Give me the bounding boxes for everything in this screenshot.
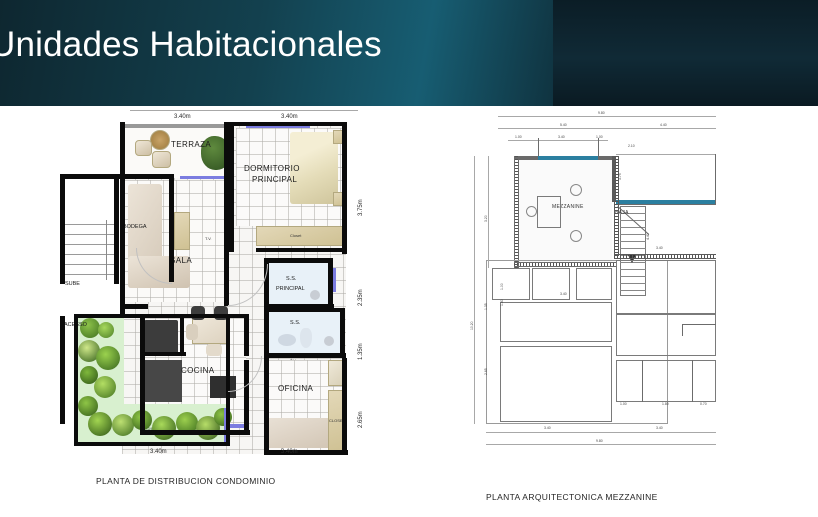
dim-chain-top-3 (508, 140, 608, 141)
tree-6 (94, 376, 116, 398)
wall-bodega-left (60, 174, 65, 284)
console-table (174, 212, 190, 250)
wall-cocina-inner-v (180, 314, 184, 356)
room-label-ss-principal: S.S. (286, 276, 296, 282)
terraza-chair-2 (152, 151, 171, 168)
wall-cocina-south (140, 430, 250, 435)
lower-wall-hatch (614, 254, 716, 259)
tree-8 (88, 412, 112, 436)
ss-fixture (324, 336, 334, 346)
room-label-ss-principal-2: PRINCIPAL (276, 286, 305, 292)
slide-content-area: 3.40m 3.40m TERRAZA DORMITORIO (0, 106, 818, 517)
dim-lower-b: 1.80 (662, 402, 669, 406)
dim-chain-left-inner (488, 156, 489, 268)
slide-header-banner: Unidades Habitacionales (0, 0, 818, 106)
floor-plan-mezzanine: 9.80 5.40 4.40 1.00 3.40 1.00 MEZZANINE (468, 110, 728, 485)
lower-detail-2 (682, 324, 683, 336)
tv-label-sala: T.V. (205, 236, 212, 241)
wall-oficina-south (264, 450, 348, 455)
dim-chain-bottom-2 (486, 444, 716, 445)
dim-top-b: 4.40 (660, 123, 667, 127)
wall-ss-principal-east (328, 258, 333, 308)
dining-chair-3 (186, 324, 198, 340)
room-label-dormitorio-2: PRINCIPAL (252, 175, 297, 184)
dim-top-a: 5.40 (560, 123, 567, 127)
room-label-bodega: BODEGA (123, 224, 147, 230)
east-band-edge (616, 204, 716, 205)
wall-acesso (60, 316, 65, 424)
dim-top-e: 1.00 (596, 135, 603, 139)
tree-2 (98, 322, 114, 338)
dim-right-1: 3.75m (358, 199, 364, 216)
wall-dorm-west (229, 122, 234, 252)
wall-ss-north (264, 308, 344, 312)
dim-chain-top-1 (498, 116, 716, 117)
wall-north-dorm (229, 122, 347, 126)
lower-div-1 (642, 360, 643, 402)
slide-root: Unidades Habitacionales 3.40m 3.40m TERR… (0, 0, 818, 517)
wall-jardin-west (74, 314, 78, 446)
room-label-dormitorio: DORMITORIO (244, 164, 300, 173)
dim-top-c: 1.00 (515, 135, 522, 139)
mezzanine-chair-3 (526, 206, 537, 217)
mezzanine-table (537, 196, 561, 228)
dim-bottom-r2: 3.40 (656, 426, 663, 430)
lower-wall-hatch-v (614, 156, 619, 256)
wall-ss-west (264, 308, 269, 358)
wall-east-upper (342, 122, 347, 254)
dim-left-5: 1.80 (500, 299, 504, 306)
dim-tick-2 (598, 138, 599, 156)
lower-room-7 (616, 314, 716, 356)
window-terraza-2 (180, 176, 226, 179)
wall-ss-east (340, 308, 345, 358)
stair-tread-5 (620, 241, 646, 242)
mezzanine-chair-1 (570, 184, 582, 196)
dim-left-overall: 10.20 (470, 322, 474, 331)
dim-top-1: 3.40m (174, 114, 191, 120)
dim-bottom-2: 3.40m (281, 449, 298, 455)
room-label-terraza: TERRAZA (171, 140, 211, 149)
tree-4 (96, 346, 120, 370)
dim-mid-a: 3.40 (560, 292, 567, 296)
tree-11 (152, 416, 176, 440)
wall-west-upper (120, 122, 125, 318)
wall-oficina-east (342, 358, 347, 454)
wall-jardin-north (74, 314, 240, 318)
dim-bottom-r1: 3.40 (544, 426, 551, 430)
room-label-ss: S.S. (290, 320, 300, 326)
dim-aux: 2.10 (628, 144, 635, 148)
ss-sink (278, 334, 296, 346)
wall-closet-bottom (256, 248, 346, 252)
wall-cocina-west (140, 314, 145, 434)
closet-label: Closet (290, 233, 301, 238)
wall-cocina-east-a (244, 314, 249, 356)
terraza-table (150, 130, 170, 150)
tree-1 (80, 318, 100, 338)
page-title: Unidades Habitacionales (0, 25, 382, 65)
east-outline-right (715, 154, 716, 204)
lower-room-6 (616, 260, 716, 314)
header-gradient-panel (553, 0, 818, 106)
stair-handrail (106, 220, 107, 280)
dim-left-3: 2.65 (484, 368, 488, 375)
cocina-appliance-2 (144, 360, 182, 402)
dim-tick-1 (538, 138, 539, 156)
stair-tread-6 (620, 248, 646, 249)
tree-9 (112, 414, 134, 436)
dim-bottom-1: 3.40m (150, 449, 167, 455)
east-outline-top (616, 154, 716, 155)
wall-jardin-south (74, 442, 230, 446)
dim-lower-a: 1.00 (620, 402, 627, 406)
cocina-appliance-1 (144, 320, 178, 354)
dim-left-4: 1.00 (500, 283, 504, 290)
dim-line-top (130, 110, 358, 111)
wall-entry-threshold (120, 304, 148, 309)
dim-top-d: 3.40 (558, 135, 565, 139)
ss-principal-fixture (310, 290, 320, 300)
dim-bottom-overall: 9.80 (596, 439, 603, 443)
dim-stair-height: 4.40 (646, 233, 650, 240)
stair-tread-4 (620, 234, 646, 235)
wall-oficina-west (264, 358, 269, 454)
lower-detail-1 (682, 324, 716, 325)
dim-right-2: 2.35m (358, 289, 364, 306)
room-label-cocina: COCINA (181, 366, 215, 375)
wall-ss-south (264, 353, 346, 358)
left-plan-caption: PLANTA DE DISTRIBUCION CONDOMINIO (96, 476, 276, 486)
dim-east-height: 3.75 (618, 173, 622, 180)
ss-principal-floor (268, 262, 330, 306)
dim-right-4: 2.65m (358, 411, 364, 428)
dim-left-1: 3.20 (484, 215, 488, 222)
dim-lower-c: 0.70 (700, 402, 707, 406)
mezzanine-chair-2 (570, 230, 582, 242)
dim-right-3: 1.35m (358, 343, 364, 360)
wall-sube-divider (114, 174, 119, 284)
dining-chair-4 (206, 344, 222, 356)
room-label-sube: SUBE (65, 281, 80, 287)
wall-ss-principal-north (264, 258, 332, 263)
room-label-oficina: OFICINA (278, 384, 313, 393)
lower-room-8 (616, 360, 716, 402)
dim-chain-left-outer (474, 156, 475, 424)
dim-top-overall: 9.80 (598, 111, 605, 115)
dim-chain-bottom-1 (486, 432, 716, 433)
sofa-oficina (264, 418, 334, 448)
dim-left-2: 1.35 (484, 303, 488, 310)
terraza-rail (122, 124, 226, 128)
dim-upper-right: 3.40 (656, 246, 663, 250)
ss-toilet (300, 328, 312, 348)
dim-top-2: 3.40m (281, 114, 298, 120)
dim-chain-top-2 (498, 128, 716, 129)
terraza-chair-1 (135, 140, 152, 156)
floor-plan-condominio: 3.40m 3.40m TERRAZA DORMITORIO (28, 108, 358, 478)
right-plan-caption: PLANTA ARQUITECTONICA MEZZANINE (486, 492, 658, 502)
lower-div-2 (692, 360, 693, 402)
